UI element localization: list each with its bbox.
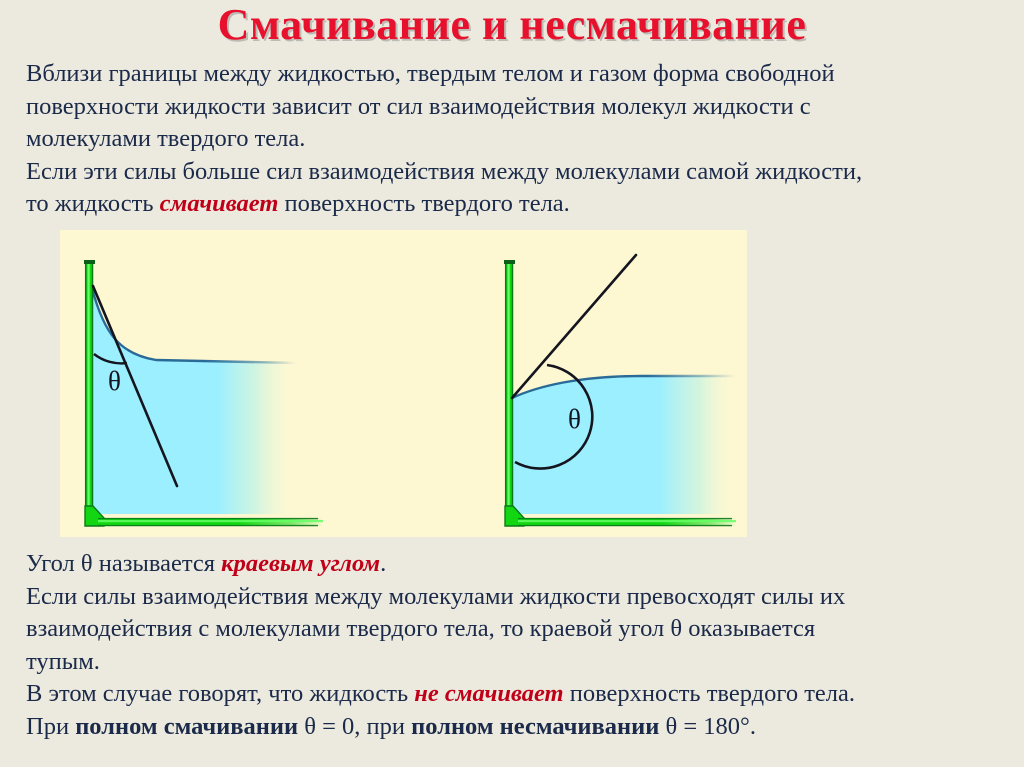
conclusion-line-2: Если силы взаимодействия между молекулам… bbox=[26, 581, 1006, 614]
emphasis-contact-angle: краевым углом bbox=[221, 550, 380, 577]
liquid-body-left bbox=[92, 288, 296, 514]
emphasis-does-not-wet: не смачивает bbox=[414, 680, 563, 707]
conclusion-line-1: Угол θ называется краевым углом. bbox=[26, 548, 1006, 581]
emphasis-full-non-wetting: полном несмачивании bbox=[411, 713, 659, 740]
conclusion-line-5-suffix: поверхность твердого тела. bbox=[564, 680, 855, 707]
non-wetting-diagram: θ bbox=[504, 255, 736, 526]
angle-label-right: θ bbox=[568, 404, 581, 434]
liquid-body-right bbox=[512, 376, 736, 514]
vessel-wall-bottom-right-hilite bbox=[518, 520, 736, 522]
vessel-wall-top-cap-left bbox=[84, 260, 95, 264]
conclusion-line-6-suffix: θ = 180°. bbox=[659, 713, 756, 740]
conclusion-line-5: В этом случае говорят, что жидкость не с… bbox=[26, 678, 1006, 711]
intro-line-4: Если эти силы больше сил взаимодействия … bbox=[26, 156, 1006, 189]
intro-paragraph: Вблизи границы между жидкостью, твердым … bbox=[26, 58, 1006, 221]
intro-line-5: то жидкость смачивает поверхность твердо… bbox=[26, 188, 1006, 221]
intro-line-5-suffix: поверхность твердого тела. bbox=[278, 190, 569, 217]
conclusion-line-6: При полном смачивании θ = 0, при полном … bbox=[26, 711, 1006, 744]
intro-line-3: молекулами твердого тела. bbox=[26, 123, 1006, 156]
conclusion-line-4: тупым. bbox=[26, 646, 1006, 679]
intro-line-5-prefix: то жидкость bbox=[26, 190, 160, 217]
vessel-wall-vertical-right-hilite bbox=[508, 262, 510, 515]
emphasis-wets: смачивает bbox=[160, 190, 279, 217]
conclusion-line-6-mid: θ = 0, при bbox=[298, 713, 411, 740]
vessel-wall-bottom-left-hilite bbox=[98, 520, 323, 522]
intro-line-1: Вблизи границы между жидкостью, твердым … bbox=[26, 58, 1006, 91]
conclusion-paragraph: Угол θ называется краевым углом. Если си… bbox=[26, 548, 1006, 744]
conclusion-line-3: взаимодействия с молекулами твердого тел… bbox=[26, 613, 1006, 646]
vessel-wall-vertical-left-hilite bbox=[88, 262, 90, 515]
vessel-wall-top-cap-right bbox=[504, 260, 515, 264]
conclusion-line-6-prefix: При bbox=[26, 713, 75, 740]
intro-line-2: поверхности жидкости зависит от сил взаи… bbox=[26, 91, 1006, 124]
contact-angle-svg: θ θ bbox=[60, 230, 747, 537]
conclusion-line-5-prefix: В этом случае говорят, что жидкость bbox=[26, 680, 414, 707]
contact-angle-figure: θ θ С bbox=[60, 230, 747, 537]
conclusion-line-1-suffix: . bbox=[380, 550, 386, 577]
conclusion-line-1-prefix: Угол θ называется bbox=[26, 550, 221, 577]
page-title: Смачивание и несмачивание bbox=[0, 0, 1024, 52]
wetting-diagram: θ bbox=[84, 260, 323, 526]
angle-label-left: θ bbox=[108, 366, 121, 396]
emphasis-full-wetting: полном смачивании bbox=[75, 713, 298, 740]
